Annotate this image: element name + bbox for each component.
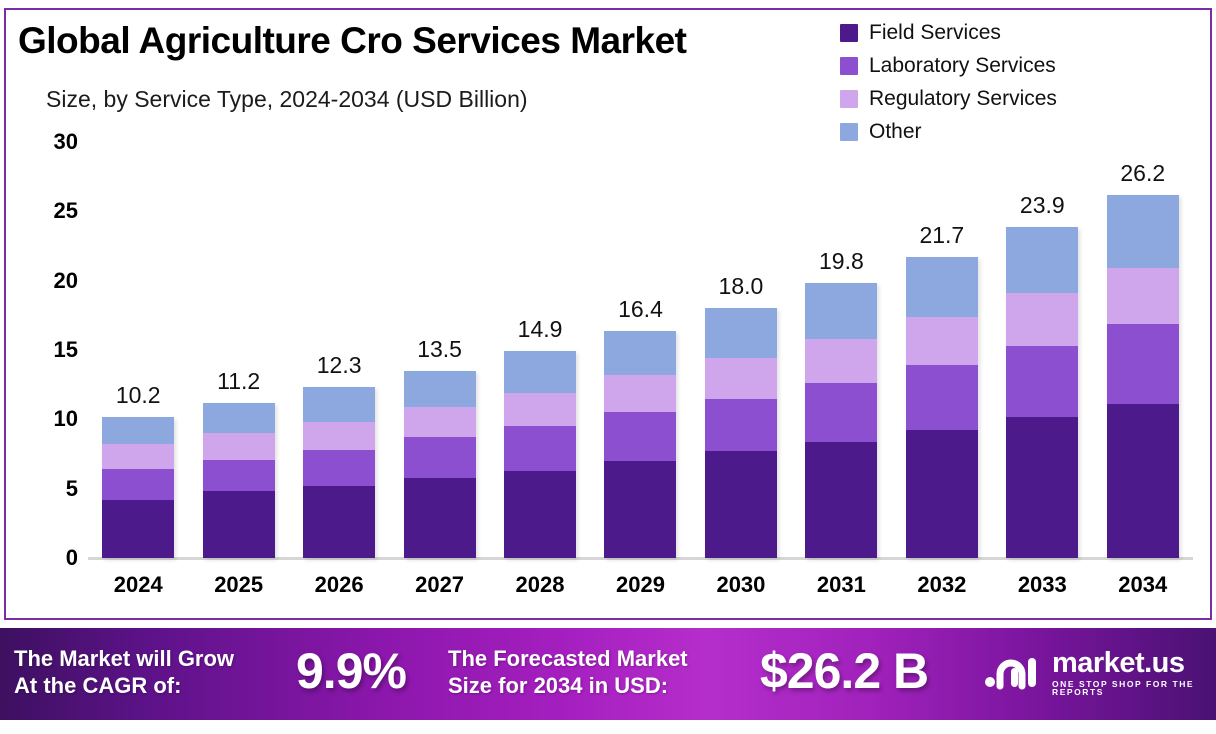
bar-segment-field-services[interactable] xyxy=(805,442,877,558)
bar-segment-laboratory-services[interactable] xyxy=(906,365,978,430)
bar-segment-other[interactable] xyxy=(604,331,676,375)
stacked-bar[interactable] xyxy=(404,371,476,558)
x-axis-tick-label: 2025 xyxy=(214,572,263,598)
bar-group[interactable]: 13.52027 xyxy=(389,0,489,612)
x-axis-tick-label: 2024 xyxy=(114,572,163,598)
bar-group[interactable]: 16.42029 xyxy=(590,0,690,612)
bar-segment-regulatory-services[interactable] xyxy=(1107,268,1179,323)
bar-group[interactable]: 23.92033 xyxy=(992,0,1092,612)
bar-total-label: 18.0 xyxy=(719,273,764,300)
bar-group[interactable]: 18.02030 xyxy=(691,0,791,612)
bar-segment-laboratory-services[interactable] xyxy=(705,399,777,452)
stacked-bar[interactable] xyxy=(1006,227,1078,558)
x-axis-tick-label: 2033 xyxy=(1018,572,1067,598)
market-us-logo[interactable]: market.us ONE STOP SHOP FOR THE REPORTS xyxy=(984,648,1216,697)
bar-segment-regulatory-services[interactable] xyxy=(404,407,476,438)
bar-segment-other[interactable] xyxy=(1006,227,1078,294)
bar-segment-other[interactable] xyxy=(805,283,877,338)
bar-segment-regulatory-services[interactable] xyxy=(303,422,375,450)
bar-segment-other[interactable] xyxy=(102,417,174,445)
y-axis-tick-label: 30 xyxy=(22,129,78,155)
bar-segment-field-services[interactable] xyxy=(404,478,476,558)
cagr-caption-line2: At the CAGR of: xyxy=(14,673,234,700)
bar-segment-laboratory-services[interactable] xyxy=(203,460,275,492)
infographic-root: Global Agriculture Cro Services Market S… xyxy=(0,0,1216,734)
logo-tagline: ONE STOP SHOP FOR THE REPORTS xyxy=(1052,680,1216,697)
bar-segment-regulatory-services[interactable] xyxy=(906,317,978,366)
x-axis-tick-label: 2032 xyxy=(917,572,966,598)
bar-segment-regulatory-services[interactable] xyxy=(705,358,777,398)
bar-segment-field-services[interactable] xyxy=(604,461,676,558)
bar-segment-other[interactable] xyxy=(303,387,375,422)
bar-group[interactable]: 10.22024 xyxy=(88,0,188,612)
bar-segment-other[interactable] xyxy=(1107,195,1179,268)
bar-segment-laboratory-services[interactable] xyxy=(102,469,174,500)
stacked-bar[interactable] xyxy=(102,417,174,558)
y-axis-tick-label: 10 xyxy=(22,406,78,432)
y-axis-tick-label: 20 xyxy=(22,268,78,294)
cagr-caption-line1: The Market will Grow xyxy=(14,646,234,673)
bar-group[interactable]: 26.22034 xyxy=(1093,0,1193,612)
bar-segment-laboratory-services[interactable] xyxy=(1006,346,1078,417)
stacked-bar[interactable] xyxy=(705,308,777,558)
bar-total-label: 16.4 xyxy=(618,296,663,323)
forecast-size-value: $26.2 B xyxy=(760,642,928,700)
bar-total-label: 19.8 xyxy=(819,248,864,275)
x-axis-tick-label: 2034 xyxy=(1118,572,1167,598)
bar-segment-regulatory-services[interactable] xyxy=(805,339,877,383)
y-axis-tick-label: 5 xyxy=(22,476,78,502)
stacked-bar[interactable] xyxy=(1107,195,1179,558)
bar-segment-regulatory-services[interactable] xyxy=(504,393,576,426)
bar-group[interactable]: 21.72032 xyxy=(892,0,992,612)
stacked-bar[interactable] xyxy=(203,403,275,558)
bar-segment-laboratory-services[interactable] xyxy=(504,426,576,470)
bar-segment-field-services[interactable] xyxy=(504,471,576,558)
bar-total-label: 11.2 xyxy=(217,368,260,395)
bar-total-label: 14.9 xyxy=(518,316,563,343)
bar-segment-other[interactable] xyxy=(504,351,576,393)
bar-total-label: 26.2 xyxy=(1120,160,1165,187)
bar-segment-laboratory-services[interactable] xyxy=(404,437,476,477)
y-axis-tick-label: 25 xyxy=(22,198,78,224)
logo-wordmark: market.us xyxy=(1052,649,1216,678)
x-axis-tick-label: 2026 xyxy=(315,572,364,598)
y-axis-tick-label: 15 xyxy=(22,337,78,363)
bar-segment-regulatory-services[interactable] xyxy=(102,444,174,469)
stacked-bar[interactable] xyxy=(604,331,676,558)
stacked-bar[interactable] xyxy=(906,257,978,558)
stacked-bar[interactable] xyxy=(504,351,576,558)
bar-segment-other[interactable] xyxy=(404,371,476,407)
bar-total-label: 23.9 xyxy=(1020,192,1065,219)
y-axis-ticks: 051015202530 xyxy=(16,0,78,612)
bar-segment-field-services[interactable] xyxy=(303,486,375,558)
bar-segment-laboratory-services[interactable] xyxy=(805,383,877,441)
bar-group[interactable]: 14.92028 xyxy=(490,0,590,612)
bar-segment-regulatory-services[interactable] xyxy=(1006,293,1078,346)
x-axis-tick-label: 2030 xyxy=(716,572,765,598)
bar-group[interactable]: 11.22025 xyxy=(188,0,288,612)
bar-group[interactable]: 19.82031 xyxy=(791,0,891,612)
x-axis-tick-label: 2028 xyxy=(516,572,565,598)
x-axis-tick-label: 2027 xyxy=(415,572,464,598)
stacked-bar[interactable] xyxy=(805,283,877,558)
bar-segment-field-services[interactable] xyxy=(705,451,777,558)
bar-segment-laboratory-services[interactable] xyxy=(303,450,375,486)
bar-segment-other[interactable] xyxy=(906,257,978,317)
forecast-size-caption: The Forecasted Market Size for 2034 in U… xyxy=(448,646,688,700)
bar-segment-field-services[interactable] xyxy=(1006,417,1078,558)
bar-segment-field-services[interactable] xyxy=(102,500,174,558)
bar-segment-regulatory-services[interactable] xyxy=(203,433,275,459)
bar-segment-other[interactable] xyxy=(705,308,777,358)
forecast-size-caption-line2: Size for 2034 in USD: xyxy=(448,673,688,700)
bar-segment-regulatory-services[interactable] xyxy=(604,375,676,412)
bar-total-label: 21.7 xyxy=(919,222,964,249)
bar-total-label: 13.5 xyxy=(417,336,462,363)
stacked-bar[interactable] xyxy=(303,387,375,558)
bar-segment-field-services[interactable] xyxy=(906,430,978,558)
x-axis-tick-label: 2029 xyxy=(616,572,665,598)
market-us-logo-text: market.us ONE STOP SHOP FOR THE REPORTS xyxy=(1052,649,1216,697)
y-axis-tick-label: 0 xyxy=(22,545,78,571)
cagr-caption: The Market will Grow At the CAGR of: xyxy=(14,646,234,700)
bar-group[interactable]: 12.32026 xyxy=(289,0,389,612)
bar-segment-laboratory-services[interactable] xyxy=(1107,324,1179,404)
summary-banner: The Market will Grow At the CAGR of: 9.9… xyxy=(0,628,1216,720)
market-us-logo-icon xyxy=(984,648,1042,697)
cagr-value: 9.9% xyxy=(296,642,406,700)
bar-segment-field-services[interactable] xyxy=(1107,404,1179,558)
bar-segment-laboratory-services[interactable] xyxy=(604,412,676,461)
chart-plot-area: 051015202530 10.2202411.2202512.3202613.… xyxy=(0,0,1208,612)
forecast-size-caption-line1: The Forecasted Market xyxy=(448,646,688,673)
bar-total-label: 12.3 xyxy=(317,352,362,379)
x-axis-tick-label: 2031 xyxy=(817,572,866,598)
bar-segment-field-services[interactable] xyxy=(203,491,275,558)
bar-total-label: 10.2 xyxy=(116,382,161,409)
bar-segment-other[interactable] xyxy=(203,403,275,434)
bar-series-container: 10.2202411.2202512.3202613.5202714.92028… xyxy=(88,0,1193,612)
